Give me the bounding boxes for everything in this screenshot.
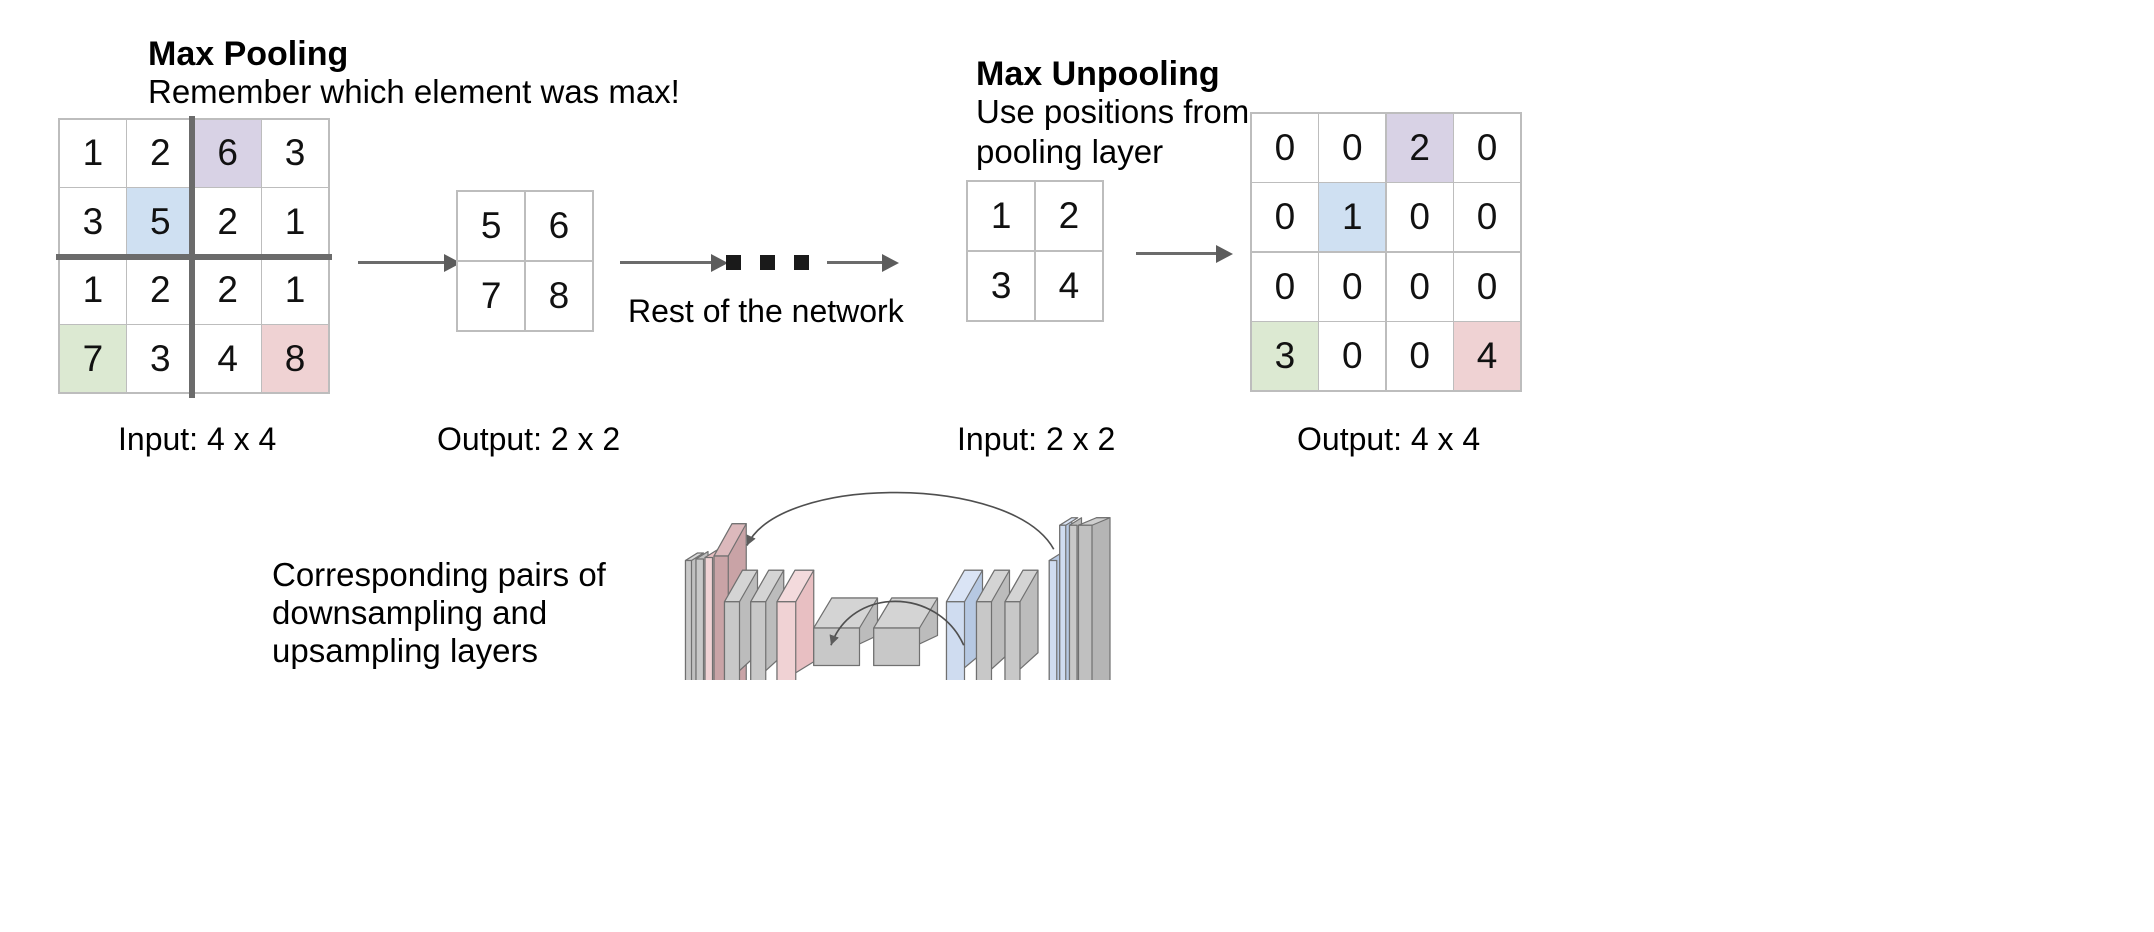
pooling-output-cell-r2c1: 7: [458, 262, 524, 330]
unpooling-output-cell-r4c3: 0: [1387, 322, 1453, 390]
pooling-input-cell-r2c3: 2: [195, 188, 261, 255]
pooling-quadrant-separator-horizontal: [56, 254, 332, 260]
arrow-rest-right-line: [827, 261, 887, 264]
unpooling-input-cell-r1c1: 1: [968, 182, 1034, 250]
arrow-rest-right-head: [882, 254, 899, 272]
unpooling-output-cell-r3c2: 0: [1319, 253, 1385, 321]
arrow-unpooling-line: [1136, 252, 1220, 255]
unpooling-output-grid: 0020010000003004: [1250, 112, 1522, 392]
arrow-pooling-to-output-line: [358, 261, 448, 264]
pooling-output-grid: 5678: [456, 190, 594, 332]
pooling-input-cell-r1c4: 3: [262, 120, 328, 187]
ellipsis-dot: [794, 255, 809, 270]
pooling-input-cell-r2c1: 3: [60, 188, 126, 255]
pooling-input-cell-r3c2: 2: [127, 257, 193, 324]
max-unpooling-subtitle-line1: Use positions from: [976, 92, 1249, 132]
max-pooling-subtitle: Remember which element was max!: [148, 72, 680, 112]
unpooling-output-cell-r3c3: 0: [1387, 253, 1453, 321]
unpooling-output-cell-r4c4: 4: [1454, 322, 1520, 390]
arrow-unpooling-head: [1216, 245, 1233, 263]
pooling-input-cell-r2c2: 5: [127, 188, 193, 255]
unpooling-output-cell-r2c4: 0: [1454, 183, 1520, 251]
max-unpooling-subtitle-line2: pooling layer: [976, 132, 1163, 172]
ellipsis-dot: [760, 255, 775, 270]
unpooling-input-grid: 1234: [966, 180, 1104, 322]
rest-of-network-label: Rest of the network: [628, 293, 904, 330]
unpooling-output-cell-r4c2: 0: [1319, 322, 1385, 390]
unpooling-input-cell-r2c2: 4: [1036, 252, 1102, 320]
pooling-input-cell-r4c2: 3: [127, 325, 193, 392]
unet-architecture-diagram: [660, 480, 1140, 680]
unpooling-input-caption: Input: 2 x 2: [957, 421, 1115, 458]
pooling-input-cell-r1c2: 2: [127, 120, 193, 187]
unpooling-output-cell-r2c3: 0: [1387, 183, 1453, 251]
pooling-input-cell-r3c1: 1: [60, 257, 126, 324]
pooling-output-cell-r1c1: 5: [458, 192, 524, 260]
pooling-input-cell-r1c1: 1: [60, 120, 126, 187]
pooling-output-caption: Output: 2 x 2: [437, 421, 620, 458]
unet-block-output-2: [1079, 518, 1111, 680]
unpooling-input-cell-r1c2: 2: [1036, 182, 1102, 250]
ellipsis-dot: [726, 255, 741, 270]
pooling-input-cell-r2c4: 1: [262, 188, 328, 255]
pooling-input-cell-r4c4: 8: [262, 325, 328, 392]
max-unpooling-title: Max Unpooling: [976, 54, 1220, 94]
unet-caption-line3: upsampling layers: [272, 629, 538, 673]
unet-caption-line1: Corresponding pairs of: [272, 553, 606, 597]
pooling-input-cell-r1c3: 6: [195, 120, 261, 187]
unpooling-output-cell-r1c3: 2: [1387, 114, 1453, 182]
unpooling-input-cell-r2c1: 3: [968, 252, 1034, 320]
pooling-input-cell-r3c4: 1: [262, 257, 328, 324]
pooling-output-cell-r1c2: 6: [526, 192, 592, 260]
unet-block-bottleneck-1: [814, 598, 878, 666]
pooling-output-cell-r2c2: 8: [526, 262, 592, 330]
unpooling-output-cell-r3c1: 0: [1252, 253, 1318, 321]
max-pooling-title: Max Pooling: [148, 34, 348, 74]
arrow-rest-left-line: [620, 261, 715, 264]
unpooling-output-cell-r1c4: 0: [1454, 114, 1520, 182]
unet-caption-line2: downsampling and: [272, 591, 547, 635]
pooling-input-cell-r4c3: 4: [195, 325, 261, 392]
unpooling-output-cell-r1c2: 0: [1319, 114, 1385, 182]
pooling-input-cell-r4c1: 7: [60, 325, 126, 392]
unpooling-output-caption: Output: 4 x 4: [1297, 421, 1480, 458]
unpooling-output-cell-r1c1: 0: [1252, 114, 1318, 182]
unpooling-output-cell-r2c2: 1: [1319, 183, 1385, 251]
unpooling-output-cell-r3c4: 0: [1454, 253, 1520, 321]
unpooling-output-cell-r2c1: 0: [1252, 183, 1318, 251]
unpooling-output-cell-r4c1: 3: [1252, 322, 1318, 390]
pooling-input-caption: Input: 4 x 4: [118, 421, 276, 458]
pooling-input-cell-r3c3: 2: [195, 257, 261, 324]
unet-skip-connection-outer: [747, 493, 1054, 550]
